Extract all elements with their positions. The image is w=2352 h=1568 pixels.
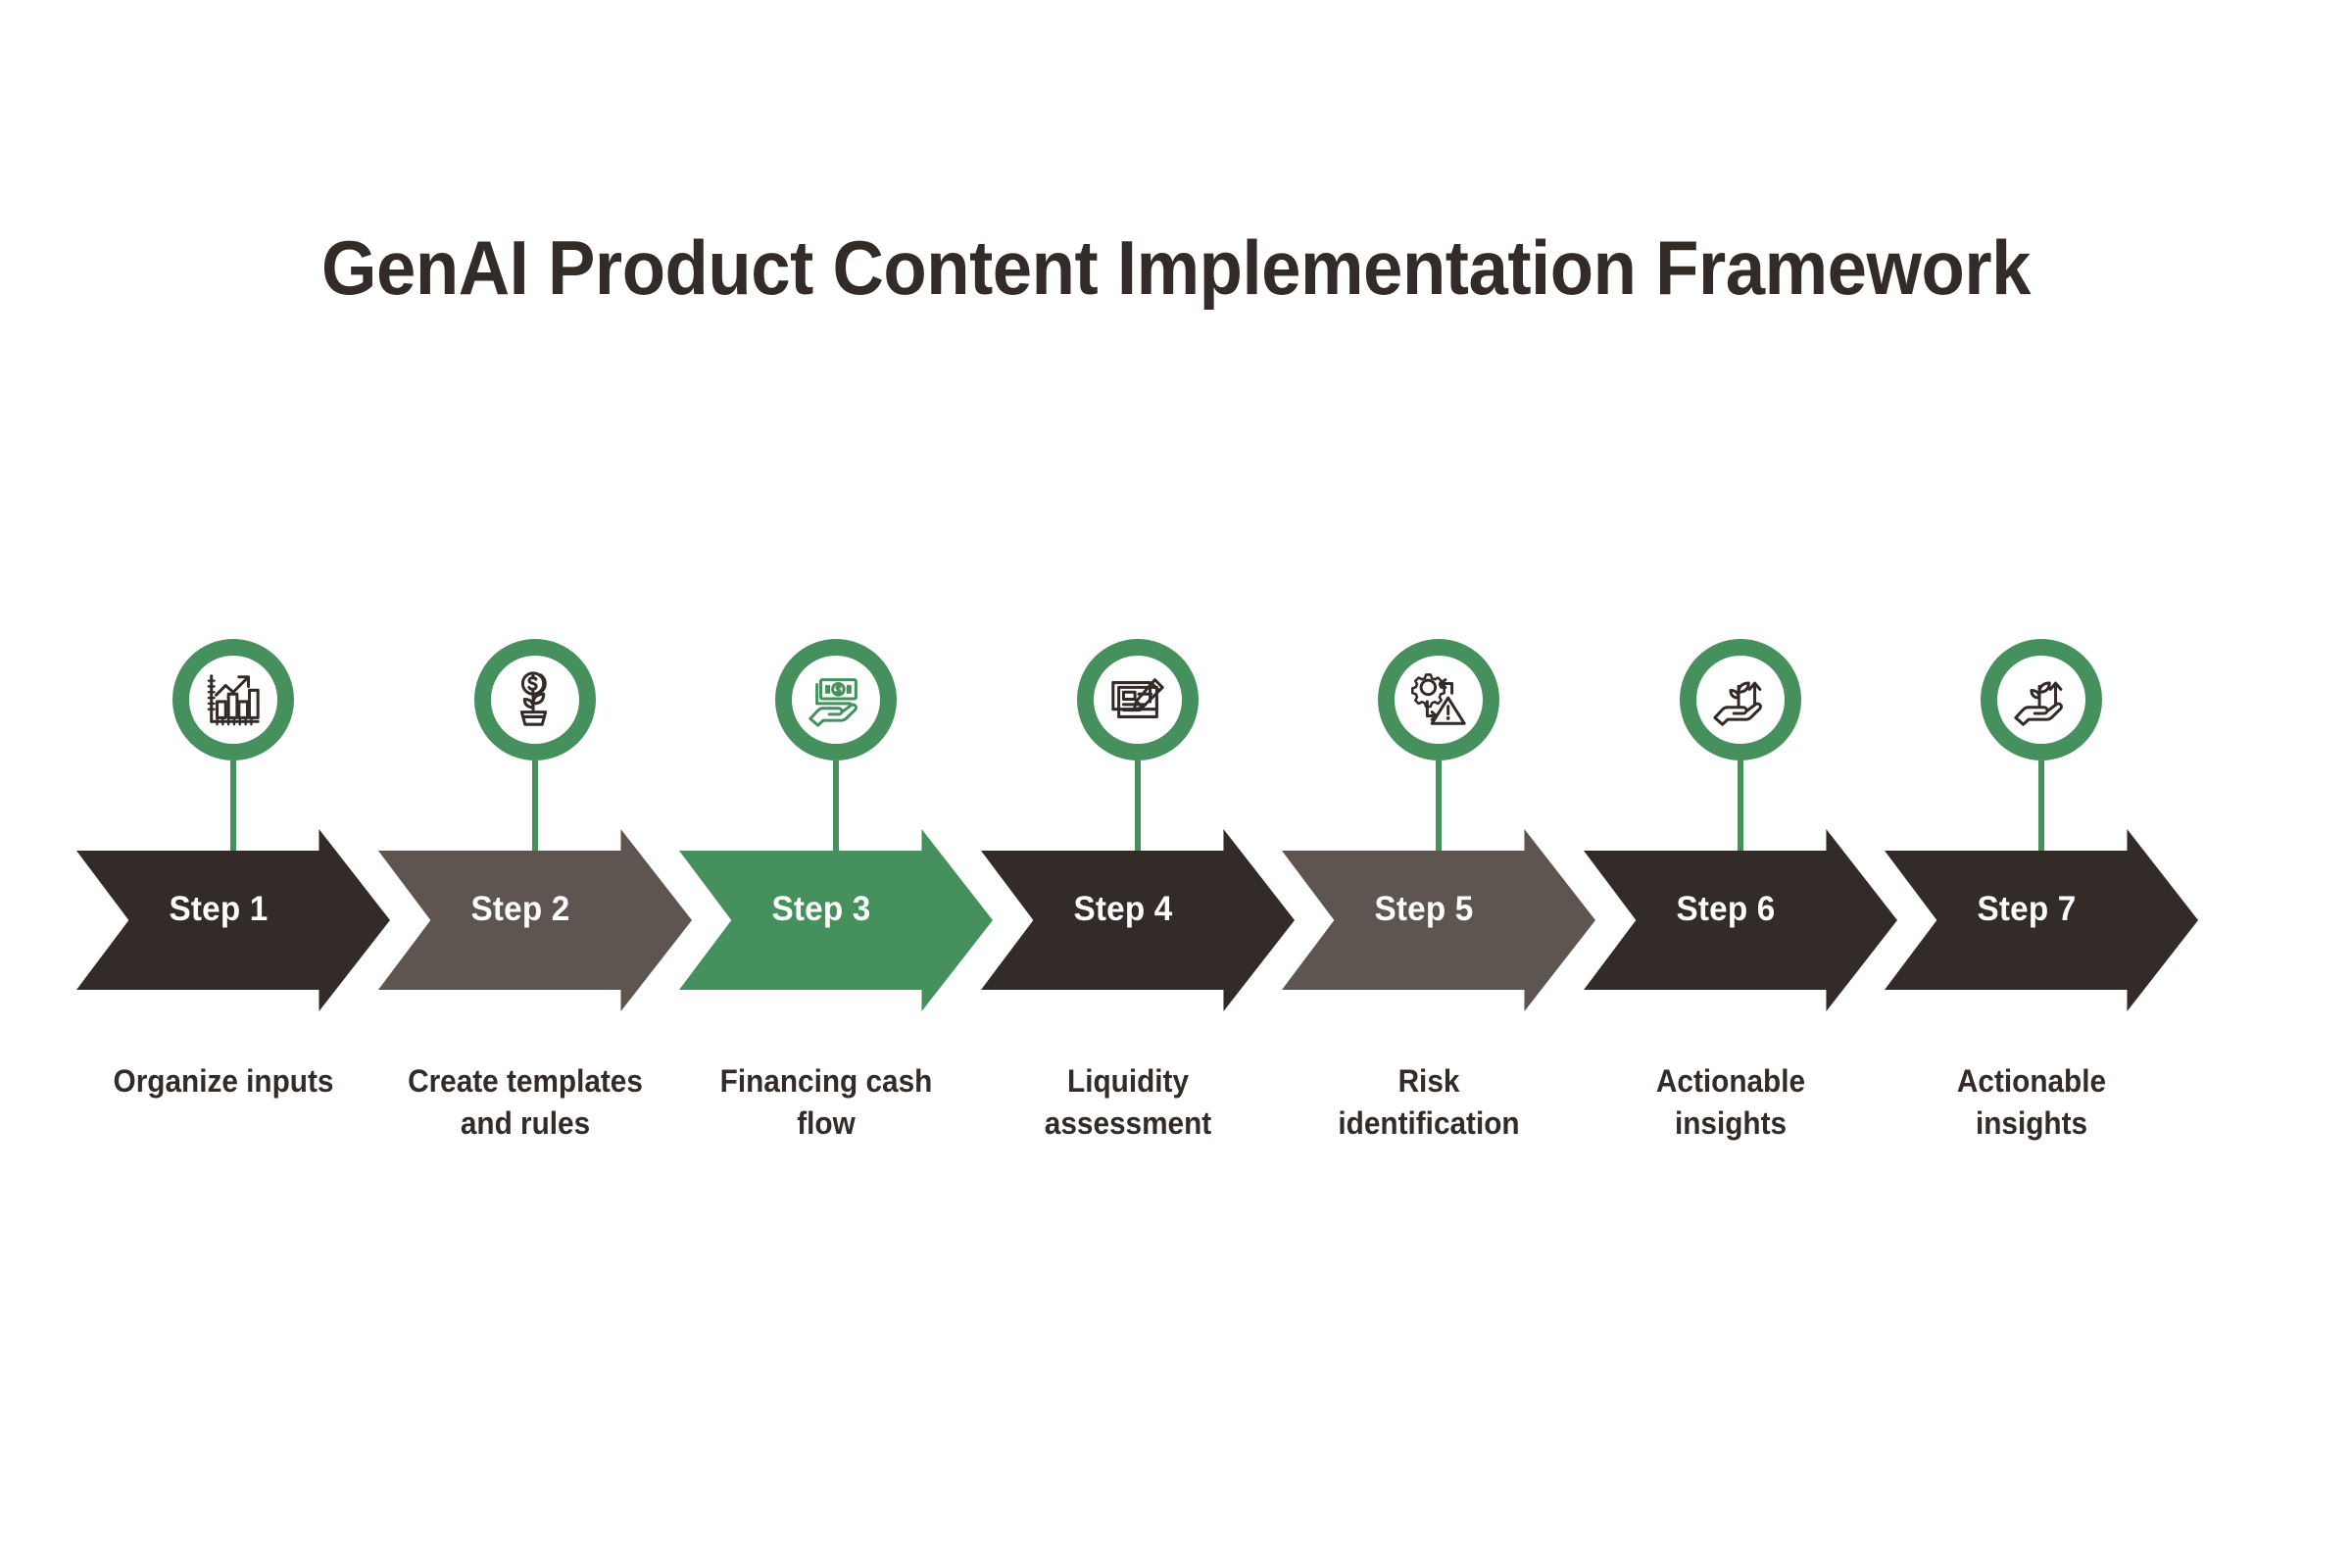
gear-warning-icon [1408, 669, 1469, 730]
infographic-canvas: GenAI Product Content Implementation Fra… [0, 0, 2352, 1568]
step-5-caption: Risk identification [1265, 1060, 1593, 1144]
step-2-label: Step 2 [385, 890, 656, 929]
step-3-icon-badge[interactable] [775, 639, 897, 760]
step-5-icon-badge[interactable] [1378, 639, 1499, 760]
step-4-label: Step 4 [988, 890, 1258, 929]
step-1[interactable]: Step 1Organize inputs [76, 0, 390, 1568]
step-track: Step 1Organize inputsStep 2Create templa… [0, 0, 2352, 1568]
step-7-caption: Actionable insights [1868, 1060, 2196, 1144]
step-2-caption: Create templates and rules [361, 1060, 689, 1144]
hand-holding-cash-icon [806, 669, 866, 730]
step-3[interactable]: Step 3Financing cash flow [679, 0, 993, 1568]
step-3-caption: Financing cash flow [662, 1060, 991, 1144]
step-5-label: Step 5 [1289, 890, 1559, 929]
step-4-caption: Liquidity assessment [963, 1060, 1292, 1144]
hand-sprout-growth-icon [2011, 669, 2072, 730]
bar-chart-growth-icon [203, 669, 264, 730]
step-6-icon-badge[interactable] [1680, 639, 1801, 760]
hand-sprout-growth-icon [1710, 669, 1771, 730]
step-1-label: Step 1 [83, 890, 354, 929]
step-2-icon-badge[interactable] [474, 639, 596, 760]
step-1-icon-badge[interactable] [172, 639, 294, 760]
step-7[interactable]: Step 7Actionable insights [1885, 0, 2198, 1568]
step-6[interactable]: Step 6Actionable insights [1584, 0, 1897, 1568]
step-4[interactable]: Step 4Liquidity assessment [981, 0, 1295, 1568]
step-6-caption: Actionable insights [1566, 1060, 1894, 1144]
step-7-label: Step 7 [1891, 890, 2162, 929]
step-4-icon-badge[interactable] [1077, 639, 1199, 760]
money-plant-icon [505, 669, 565, 730]
step-5[interactable]: Step 5Risk identification [1282, 0, 1595, 1568]
step-1-caption: Organize inputs [60, 1060, 388, 1102]
step-6-label: Step 6 [1591, 890, 1861, 929]
step-2[interactable]: Step 2Create templates and rules [378, 0, 692, 1568]
step-3-label: Step 3 [686, 890, 956, 929]
cheque-pencil-icon [1107, 669, 1168, 730]
step-7-icon-badge[interactable] [1981, 639, 2102, 760]
